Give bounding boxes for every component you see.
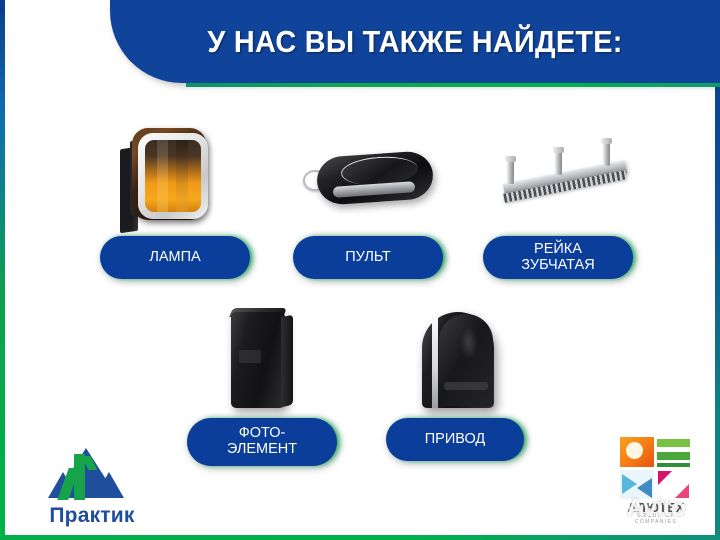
slide-canvas: У НАС ВЫ ТАКЖЕ НАЙДЕТЕ: ЛАМПА — [0, 0, 720, 540]
drive-image — [380, 300, 530, 418]
product-badge-remote[interactable]: ПУЛЬТ — [293, 236, 443, 279]
photocell-side — [281, 315, 293, 408]
product-label-rack-line1: РЕЙКА — [534, 242, 582, 258]
product-badge-drive[interactable]: ПРИВОД — [386, 418, 524, 461]
alutech-tile-green — [657, 437, 691, 467]
drive-highlight — [460, 326, 478, 360]
product-label-rack-line2: ЗУБЧАТАЯ — [521, 258, 594, 274]
praktik-wordmark: Практик — [32, 504, 152, 528]
alutech-tile-magenta — [657, 470, 691, 500]
product-label-photocell-line2: ЭЛЕМЕНТ — [227, 442, 297, 458]
alutech-tile-cyan — [620, 470, 654, 500]
praktik-triangle-right — [94, 472, 124, 498]
lamp-image — [100, 118, 250, 236]
product-label-lamp: ЛАМПА — [149, 250, 200, 266]
photocell-icon — [223, 306, 299, 414]
avito-watermark-icon — [600, 496, 634, 522]
rack-bolt — [603, 142, 610, 166]
remote-image — [293, 118, 443, 236]
product-card-lamp[interactable]: ЛАМПА — [100, 118, 250, 279]
rack-bolt — [507, 160, 514, 184]
praktik-mark-icon — [48, 448, 124, 502]
banner-underline — [186, 83, 720, 87]
frame-bottom-edge — [0, 535, 720, 540]
header-banner: У НАС ВЫ ТАКЖЕ НАЙДЕТЕ: — [110, 0, 720, 83]
gate-drive-icon — [412, 304, 504, 416]
photocell-image — [187, 300, 337, 418]
rack-image — [483, 118, 633, 236]
product-label-remote: ПУЛЬТ — [345, 250, 391, 266]
product-badge-rack[interactable]: РЕЙКА ЗУБЧАТАЯ — [483, 236, 633, 279]
product-badge-photocell[interactable]: ФОТО- ЭЛЕМЕНТ — [187, 418, 337, 466]
remote-control-icon — [303, 148, 443, 208]
rack-bolt — [555, 151, 562, 175]
alutech-mark-icon — [620, 437, 690, 499]
page-title: У НАС ВЫ ТАКЖЕ НАЙДЕТЕ: — [131, 0, 698, 83]
alutech-tile-orange — [620, 437, 654, 467]
product-card-drive[interactable]: ПРИВОД — [380, 300, 530, 461]
product-card-photocell[interactable]: ФОТО- ЭЛЕМЕНТ — [187, 300, 337, 466]
signal-lamp-icon — [118, 122, 214, 234]
drive-slot — [444, 382, 488, 390]
product-card-rack[interactable]: РЕЙКА ЗУБЧАТАЯ — [483, 118, 633, 279]
product-label-photocell-line1: ФОТО- — [239, 426, 286, 442]
lamp-lens — [145, 140, 201, 212]
frame-left-edge — [0, 0, 5, 540]
praktik-logo[interactable]: Практик — [32, 448, 152, 530]
toothed-rack-icon — [493, 134, 643, 214]
product-card-remote[interactable]: ПУЛЬТ — [293, 118, 443, 279]
drive-stripe — [432, 312, 438, 408]
frame-top-left-edge — [0, 0, 5, 12]
product-label-drive: ПРИВОД — [425, 432, 486, 448]
photocell-lens — [239, 350, 261, 363]
product-badge-lamp[interactable]: ЛАМПА — [100, 236, 250, 279]
